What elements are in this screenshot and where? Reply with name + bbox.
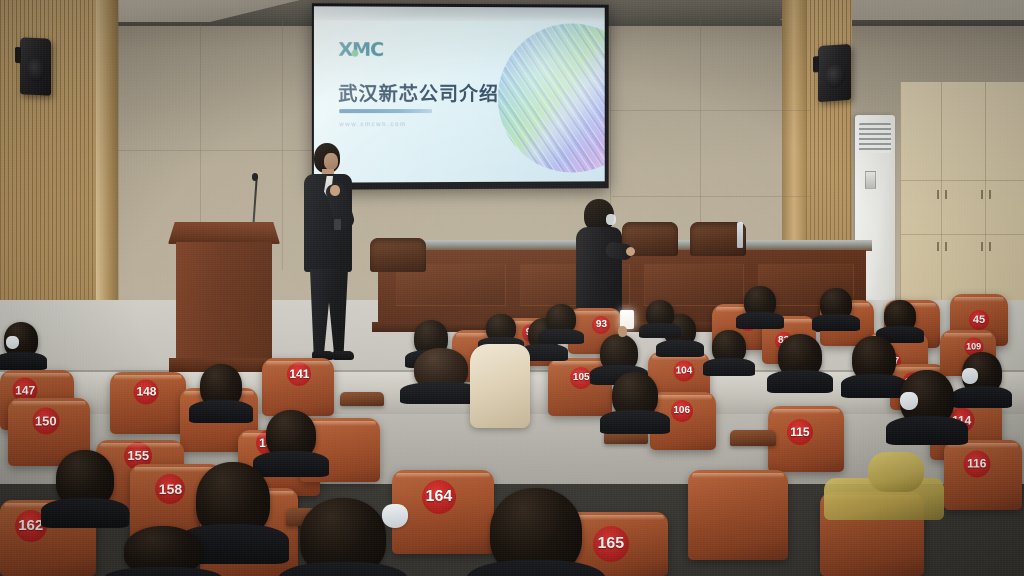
lectern-body bbox=[176, 242, 272, 360]
seat-number: 104 bbox=[673, 361, 694, 382]
desk-chair bbox=[370, 238, 426, 272]
seat-number: 148 bbox=[134, 379, 159, 404]
audience-head bbox=[778, 334, 822, 378]
audience-head bbox=[300, 498, 386, 576]
audience-head bbox=[646, 300, 674, 328]
face-mask bbox=[606, 214, 616, 225]
wall-speaker-left bbox=[20, 37, 51, 96]
seat-number: 93 bbox=[592, 316, 610, 334]
hand-holding-phone bbox=[618, 326, 627, 337]
ac-control-panel bbox=[865, 171, 876, 189]
audience-head bbox=[600, 334, 638, 372]
screen-top-band bbox=[314, 6, 605, 21]
xmc-logo: XMC bbox=[338, 41, 383, 60]
audience-head bbox=[884, 300, 916, 332]
seat[interactable]: 116 bbox=[944, 440, 1022, 510]
yellow-jacket bbox=[868, 452, 924, 492]
presenter-hand bbox=[330, 185, 340, 196]
seat-number: 116 bbox=[963, 450, 990, 477]
wall-seam bbox=[118, 150, 314, 151]
logo-accent-dot-icon bbox=[351, 50, 358, 57]
seat-number: 164 bbox=[422, 480, 456, 514]
semiconductor-wafer-icon bbox=[498, 23, 605, 173]
slide-url: www.xmcwh.com bbox=[339, 122, 406, 128]
audience-head bbox=[744, 286, 776, 318]
lectern bbox=[168, 222, 280, 372]
seat[interactable]: 115 bbox=[768, 406, 844, 472]
audience-head bbox=[712, 330, 746, 364]
audience-head bbox=[200, 364, 242, 408]
audience-head bbox=[124, 526, 202, 576]
assistant-hand bbox=[626, 247, 635, 256]
beige-puffer-jacket bbox=[470, 344, 530, 428]
presenter bbox=[300, 143, 362, 375]
wall-seam bbox=[282, 20, 283, 270]
seat[interactable]: 141 bbox=[262, 358, 334, 416]
seat-number: 45 bbox=[969, 310, 989, 330]
seat-number: 158 bbox=[155, 474, 185, 504]
assistant-body bbox=[576, 227, 622, 319]
microphone-icon bbox=[252, 173, 258, 181]
presenter-legs bbox=[310, 269, 348, 357]
wall-speaker-right bbox=[818, 44, 851, 102]
wall-seam bbox=[200, 24, 201, 254]
audience-head bbox=[196, 462, 270, 538]
armrest bbox=[340, 392, 384, 406]
wall-seam bbox=[610, 110, 810, 111]
lectern-top bbox=[168, 222, 280, 244]
seat-number: 165 bbox=[593, 526, 629, 562]
seat-number: 105 bbox=[570, 367, 592, 389]
seat[interactable] bbox=[688, 470, 788, 560]
face-mask bbox=[900, 392, 918, 410]
armrest bbox=[730, 430, 776, 446]
presenter-lanyard-badge bbox=[334, 219, 341, 230]
auditorium-photo: XMC 武汉新芯公司介绍 www.xmcwh.com bbox=[0, 0, 1024, 576]
seat-number: 141 bbox=[287, 362, 311, 386]
audience-head bbox=[820, 288, 852, 320]
audience-head bbox=[486, 314, 516, 342]
slide-title-underline bbox=[339, 109, 432, 113]
face-mask bbox=[382, 504, 408, 528]
slide-title: 武汉新芯公司介绍 bbox=[338, 79, 499, 106]
seat-number: 115 bbox=[787, 419, 813, 445]
audience-head bbox=[490, 488, 582, 576]
person-at-desk bbox=[572, 199, 622, 319]
seat-number: 150 bbox=[32, 408, 59, 435]
presenter-shoe bbox=[332, 351, 354, 360]
presenter-face bbox=[324, 153, 338, 170]
audience-head bbox=[56, 450, 114, 508]
wall-seam bbox=[612, 196, 810, 197]
face-mask bbox=[6, 336, 19, 349]
audience-head bbox=[546, 304, 576, 334]
seat[interactable]: 148 bbox=[110, 372, 186, 434]
face-mask bbox=[962, 368, 978, 384]
water-bottle bbox=[737, 222, 743, 248]
seat-number: 106 bbox=[671, 400, 693, 422]
audience-head bbox=[266, 410, 316, 460]
ac-grill-icon bbox=[859, 123, 891, 153]
audience-head bbox=[414, 348, 468, 390]
xmc-logo-text: XMC bbox=[338, 39, 383, 61]
audience-head bbox=[852, 336, 896, 382]
audience-head bbox=[612, 372, 658, 418]
